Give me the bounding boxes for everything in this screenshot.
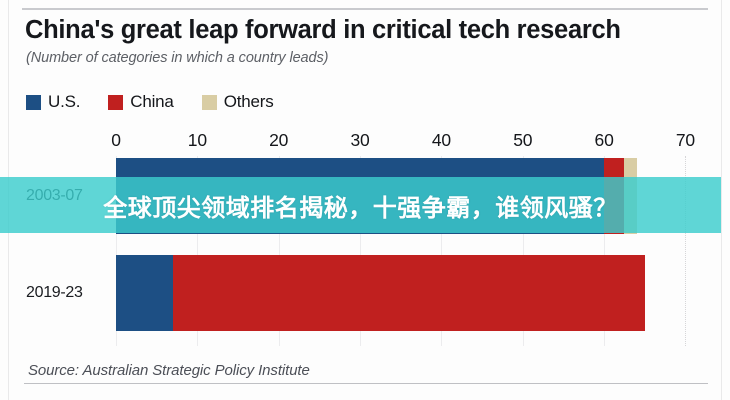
x-tick-60: 60 [595,130,614,151]
x-tick-70: 70 [676,130,695,151]
overlay-banner: 全球顶尖领域排名揭秘，十强争霸，谁领风骚？ [0,177,721,233]
bar-label-2019-23: 2019-23 [26,284,83,302]
x-axis-ticks: 010203040506070 [0,130,730,156]
bar-row-2019-23 [0,255,730,331]
x-tick-30: 30 [351,130,370,151]
legend-label-china: China [130,92,173,112]
x-tick-40: 40 [432,130,451,151]
legend-swatch-us [26,95,41,110]
legend-item-others: Others [202,92,274,112]
legend-label-others: Others [224,92,274,112]
legend-label-us: U.S. [48,92,80,112]
x-tick-20: 20 [269,130,288,151]
chart-legend: U.S. China Others [26,92,302,112]
bar-segment-2019-23-china [173,255,645,331]
chart-title: China's great leap forward in critical t… [25,16,715,45]
overlay-headline: 全球顶尖领域排名揭秘，十强争霸，谁领风骚？ [0,188,721,223]
chart-card: China's great leap forward in critical t… [0,0,730,400]
x-tick-10: 10 [188,130,207,151]
x-tick-0: 0 [111,130,121,151]
x-tick-50: 50 [513,130,532,151]
legend-swatch-others [202,95,217,110]
legend-item-us: U.S. [26,92,80,112]
legend-item-china: China [108,92,173,112]
bar-segment-2019-23-us [116,255,173,331]
plot-area: 010203040506070 2003-072019-23 [0,130,730,350]
legend-swatch-china [108,95,123,110]
source-divider [24,383,708,384]
top-divider [22,8,708,10]
source-note: Source: Australian Strategic Policy Inst… [28,362,310,379]
chart-subtitle: (Number of categories in which a country… [26,50,686,66]
